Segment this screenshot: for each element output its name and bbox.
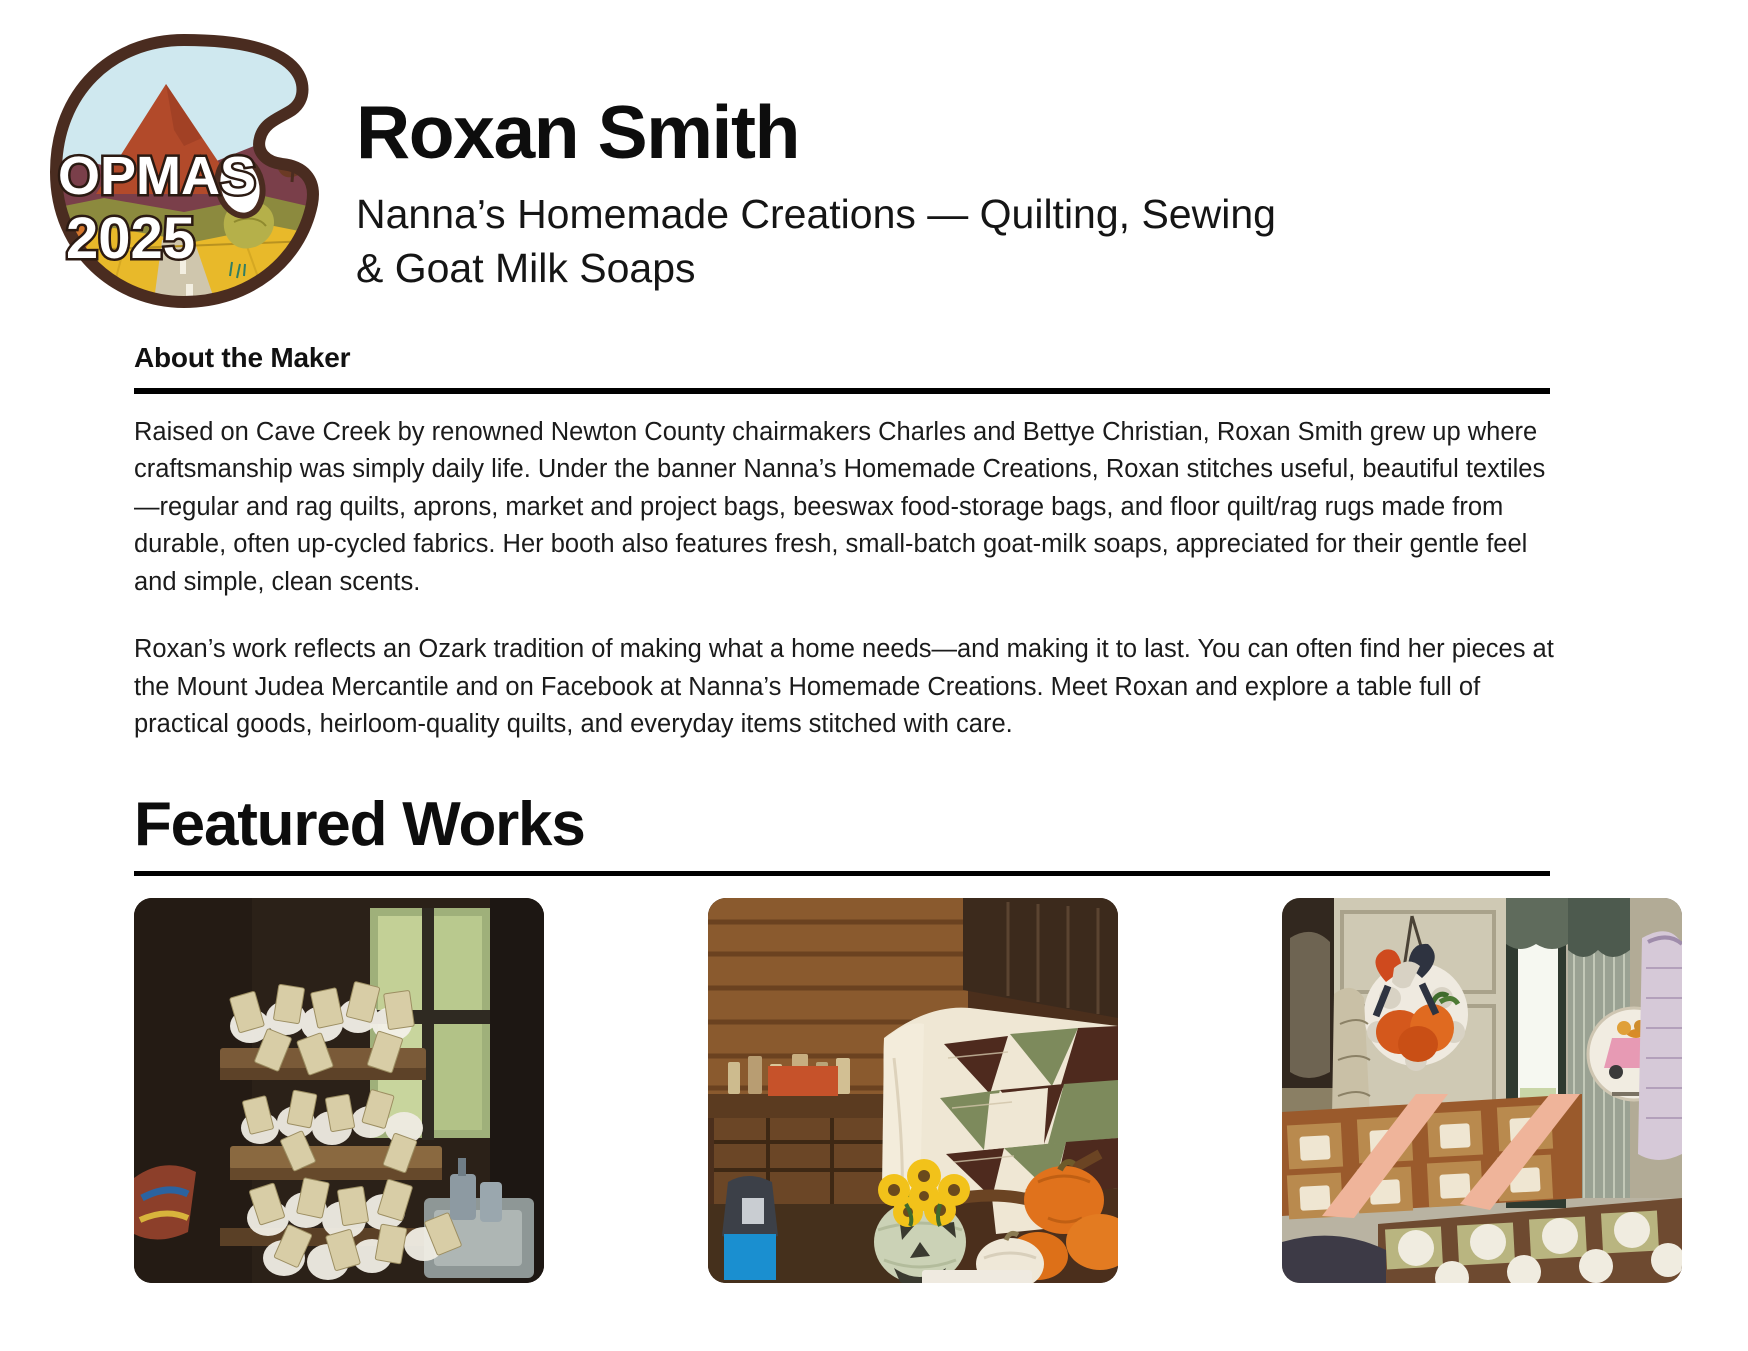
featured-section-divider: [134, 871, 1550, 876]
maker-profile-page: OPMAS 2025 Roxan Smith Nanna’s Homemade …: [0, 0, 1748, 1351]
quilt-display-photo: [708, 898, 1118, 1283]
opmas-logo-icon: OPMAS 2025: [34, 26, 334, 316]
about-section-heading: About the Maker: [134, 342, 1714, 374]
soaps-photo: [134, 898, 544, 1283]
featured-image-soaps[interactable]: [134, 898, 544, 1283]
rag-quilts-photo: [1282, 898, 1682, 1283]
page-header: OPMAS 2025 Roxan Smith Nanna’s Homemade …: [0, 0, 1748, 316]
logo-text-year: 2025: [66, 206, 195, 271]
title-block: Roxan Smith Nanna’s Homemade Creations —…: [356, 26, 1748, 296]
featured-section-heading: Featured Works: [134, 792, 1714, 857]
opmas-palette-logo: OPMAS 2025: [34, 26, 334, 316]
featured-works-gallery: [134, 898, 1554, 1283]
about-paragraph-2: Roxan’s work reflects an Ozark tradition…: [134, 631, 1554, 743]
page-subtitle: Nanna’s Homemade Creations — Quilting, S…: [356, 187, 1296, 297]
about-body: Raised on Cave Creek by renowned Newton …: [134, 414, 1554, 744]
about-section-divider: [134, 388, 1550, 394]
logo-text-opmas: OPMAS: [58, 146, 256, 206]
featured-image-quilt-display[interactable]: [708, 898, 1118, 1283]
page-title: Roxan Smith: [356, 94, 1748, 171]
featured-image-rag-quilts[interactable]: [1282, 898, 1682, 1283]
page-content: About the Maker Raised on Cave Creek by …: [0, 342, 1748, 1283]
about-paragraph-1: Raised on Cave Creek by renowned Newton …: [134, 414, 1554, 601]
